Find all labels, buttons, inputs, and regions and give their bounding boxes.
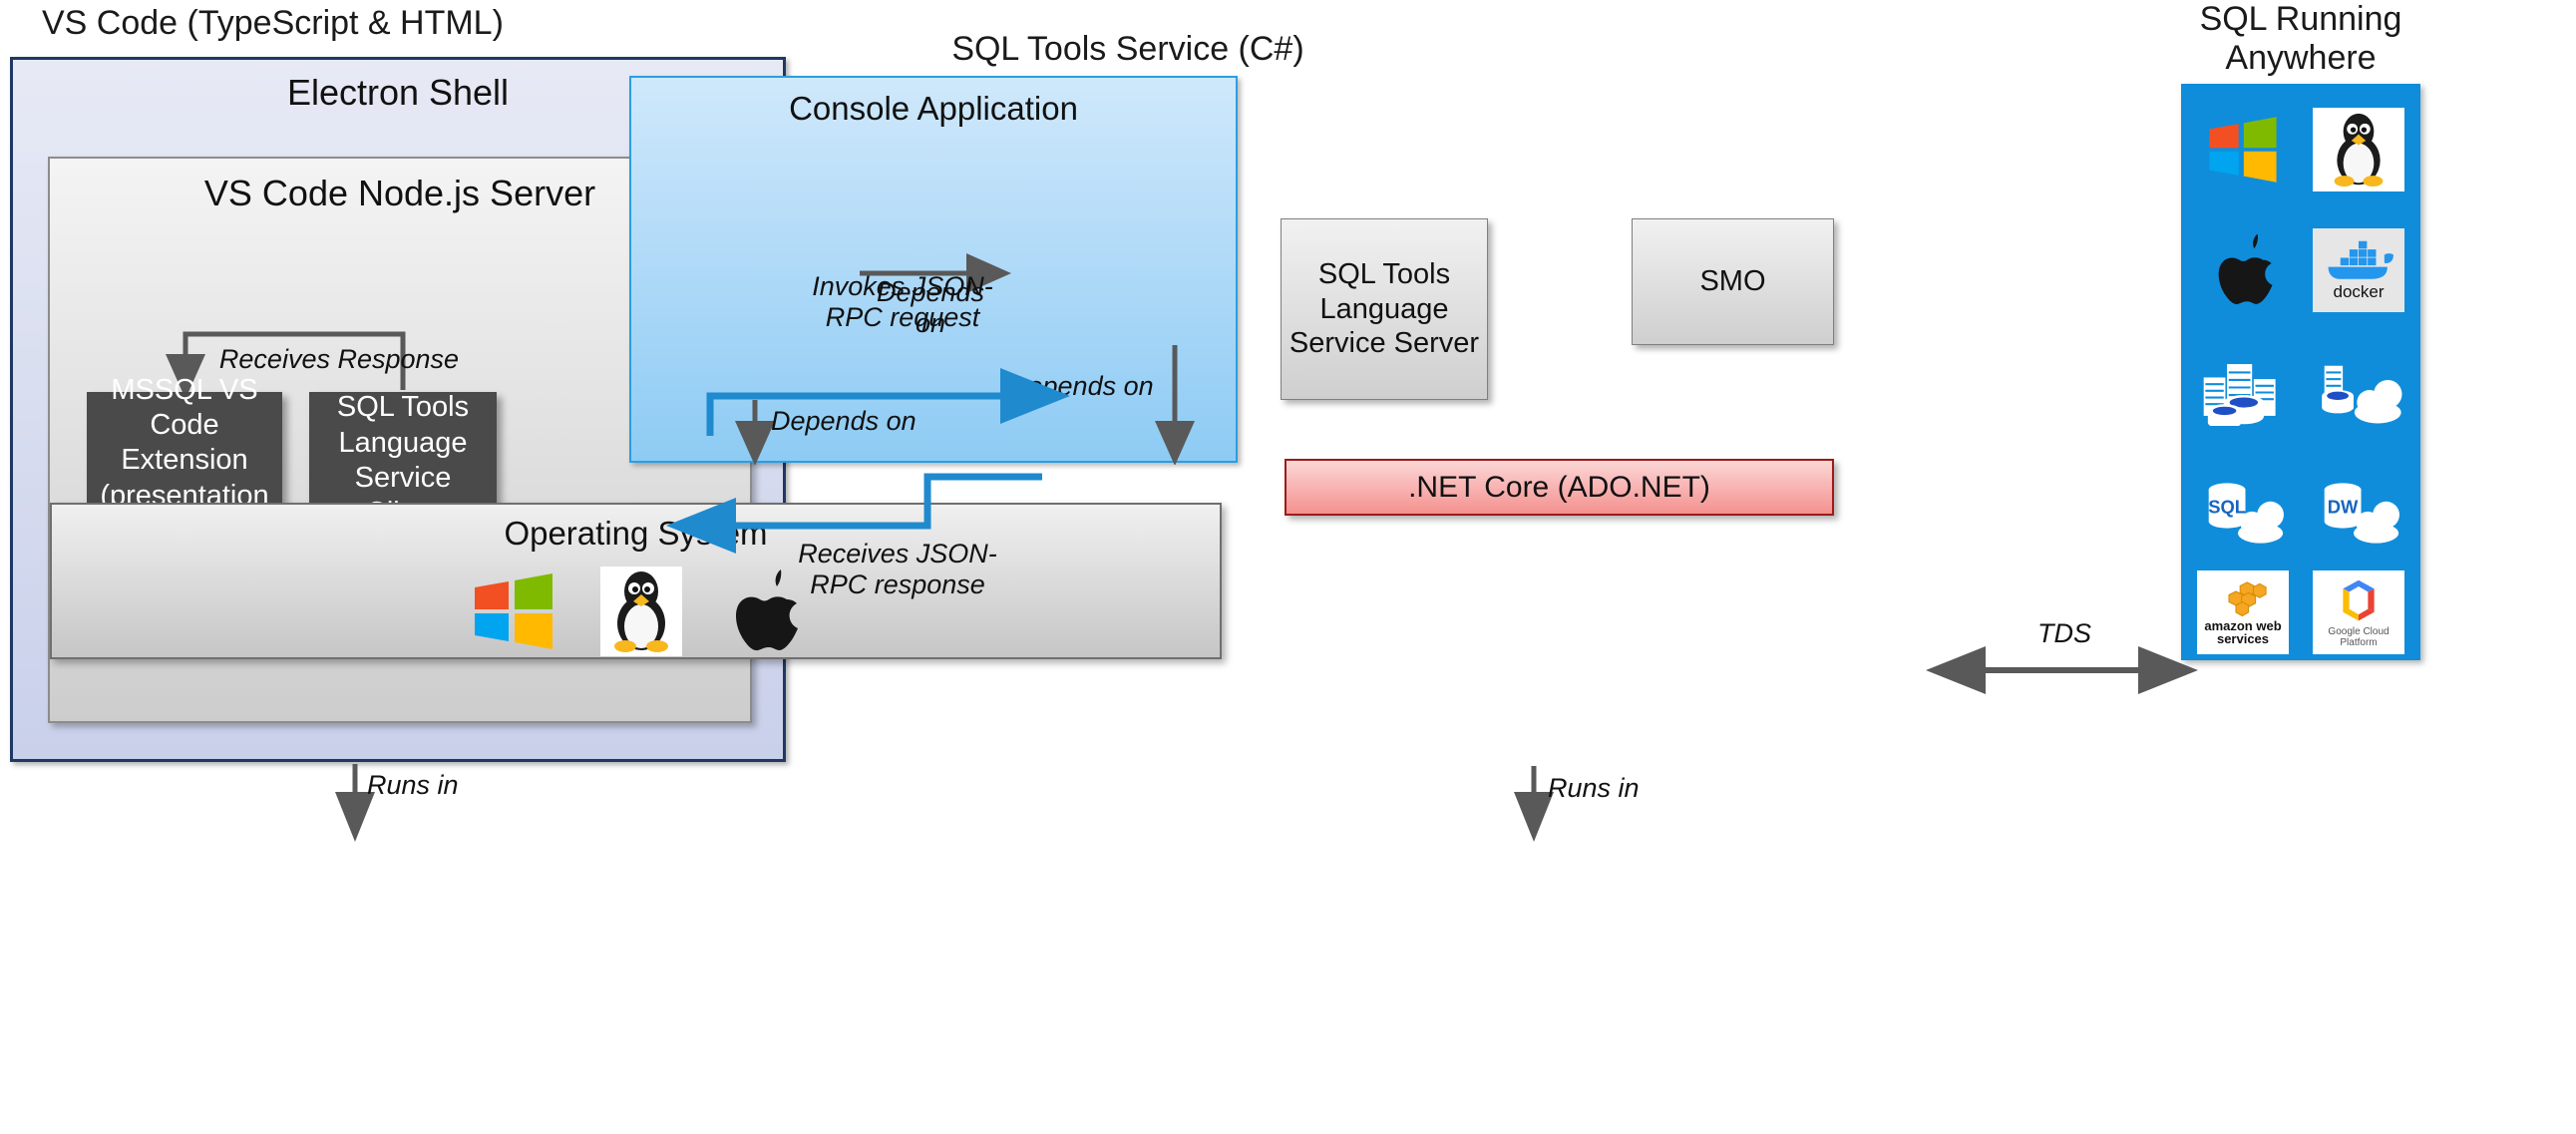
label-receives-jsonrpc-response: Receives JSON- RPC response (778, 539, 1017, 601)
label-receives-response: Receives Response (199, 344, 479, 375)
sql-running-anywhere-panel: docker (2181, 84, 2420, 660)
caption-sql-tools-service: SQL Tools Service (C#) (928, 30, 1327, 69)
hybrid-cloud-icon (2313, 354, 2404, 426)
aws-label: amazon web services (2197, 619, 2289, 645)
operating-system-container: Operating System (50, 503, 1222, 659)
docker-label: docker (2333, 282, 2384, 302)
sql-tools-language-service-server-box: SQL Tools Language Service Server (1281, 218, 1488, 400)
linux-penguin-icon (600, 567, 682, 656)
azure-sql-data-warehouse-icon: DW (2313, 475, 2404, 547)
azure-sql-dw-label: DW (2328, 496, 2359, 517)
label-runs-in-vscode: Runs in (367, 770, 556, 801)
aws-logo-icon: amazon web services (2197, 570, 2289, 654)
operating-system-icon-row (471, 567, 802, 656)
smo-box: SMO (1632, 218, 1834, 345)
azure-sql-database-icon: SQL (2197, 475, 2289, 547)
caption-vscode: VS Code (TypeScript & HTML) (10, 4, 740, 43)
windows-logo-icon (2206, 115, 2280, 185)
diagram-canvas: VS Code (TypeScript & HTML) SQL Tools Se… (0, 0, 2576, 1134)
apple-logo-icon (2210, 231, 2276, 309)
label-depends-on-core-left: Depends on (771, 406, 980, 437)
console-application-container: Console Application SQL Tools Language S… (629, 76, 1238, 463)
on-premises-datacenter-icon (2197, 354, 2289, 426)
gcp-label: Google Cloud Platform (2313, 626, 2404, 648)
google-cloud-platform-icon: Google Cloud Platform (2313, 570, 2404, 654)
label-depends-on-core-right: Depends on (1008, 371, 1218, 402)
windows-logo-icon (471, 571, 556, 651)
dotnet-core-ado-net-box: .NET Core (ADO.NET) (1285, 459, 1834, 516)
azure-sql-db-label: SQL (2208, 496, 2246, 517)
sql-anywhere-tile-grid: docker (2181, 84, 2420, 660)
caption-sql-running-anywhere: SQL Running Anywhere (2181, 0, 2420, 78)
linux-penguin-icon (2313, 108, 2404, 191)
label-tds: TDS (2005, 618, 2124, 649)
operating-system-title: Operating System (52, 515, 1220, 553)
label-invokes-jsonrpc-request: Invokes JSON- RPC request (788, 271, 1017, 334)
label-runs-in-service: Runs in (1548, 773, 1737, 804)
docker-whale-icon: docker (2313, 228, 2404, 312)
